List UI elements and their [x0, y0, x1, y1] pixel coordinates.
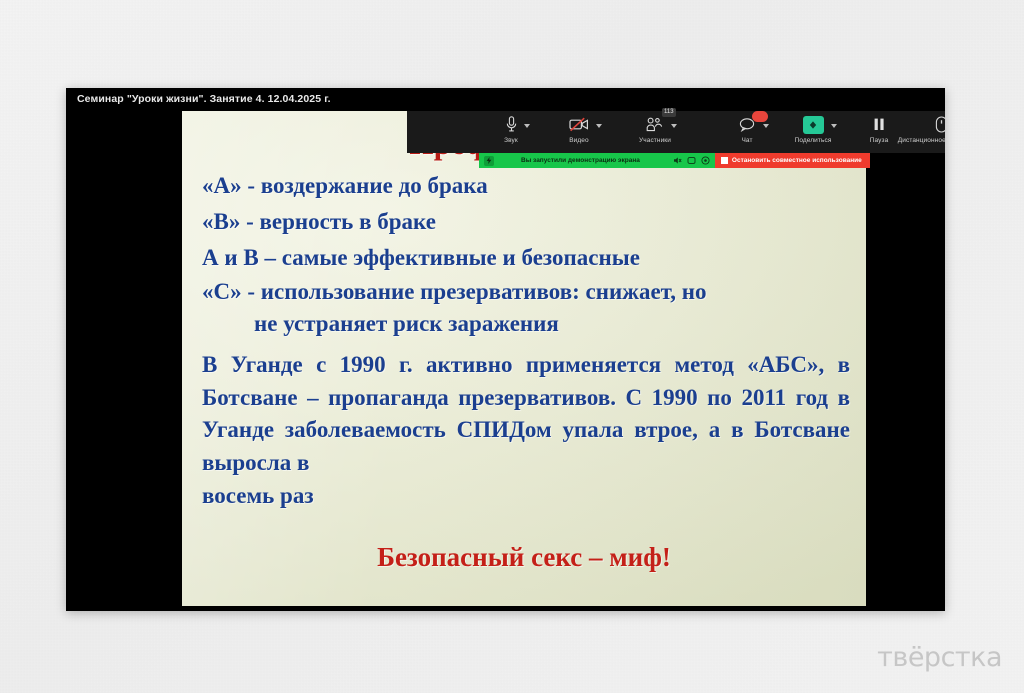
toolbar-button-chat[interactable]: Чат [727, 111, 767, 144]
slide-footer: Безопасный секс – миф! [182, 542, 866, 573]
shared-slide: Профилактичес «А» - воздержание до брака… [182, 111, 866, 606]
toolbar-button-video[interactable]: Видео [559, 111, 599, 144]
list-item: А и В – самые эффективные и безопасные [202, 240, 848, 276]
list-item-line1: «С» - использование презервативов: снижа… [202, 279, 706, 304]
stop-square-icon [721, 157, 728, 164]
toolbar-label-video: Видео [569, 137, 589, 144]
share-status-bar: Вы запустили демонстрацию экрана [479, 153, 715, 168]
video-off-icon [569, 115, 589, 134]
slide-paragraph-last-line: восемь раз [202, 480, 850, 513]
share-indicator-icon [484, 156, 494, 166]
share-status-text: Вы запустили демонстрацию экрана [499, 157, 668, 164]
toolbar-button-remote-control[interactable]: Дистанционное управление [921, 111, 945, 144]
meeting-title: Семинар "Уроки жизни". Занятие 4. 12.04.… [66, 88, 945, 110]
screen-share-control-bar: Вы запустили демонстрацию экрана Останов… [479, 153, 870, 168]
pause-share-icon[interactable] [701, 156, 710, 165]
participants-icon: 113 [646, 115, 664, 134]
stop-share-button[interactable]: Остановить совместное использование [715, 153, 870, 168]
pause-icon [872, 115, 886, 134]
microphone-icon [506, 115, 517, 134]
chevron-down-icon[interactable] [671, 124, 677, 128]
chevron-down-icon[interactable] [524, 124, 530, 128]
annotate-icon[interactable] [687, 156, 696, 165]
chevron-down-icon[interactable] [763, 124, 769, 128]
toolbar-button-audio[interactable]: Звук [491, 111, 531, 144]
chat-icon [739, 115, 756, 134]
zoom-toolbar: Звук Видео [407, 111, 945, 153]
share-screen-icon [803, 115, 824, 134]
slide-paragraph-text: В Уганде с 1990 г. активно применяется м… [202, 352, 850, 475]
list-item-line2: не устраняет риск заражения [202, 308, 848, 341]
mute-speaker-icon[interactable] [673, 156, 682, 165]
list-item: «А» - воздержание до брака [202, 168, 848, 204]
toolbar-button-share[interactable]: Поделиться [793, 111, 833, 144]
stop-share-label: Остановить совместное использование [732, 157, 862, 164]
watermark: твёрстка [877, 642, 1002, 673]
chevron-down-icon[interactable] [831, 124, 837, 128]
toolbar-label-chat: Чат [741, 137, 752, 144]
toolbar-label-share: Поделиться [795, 137, 832, 144]
participants-count-badge: 113 [662, 108, 676, 117]
toolbar-label-participants: Участники [639, 137, 671, 144]
toolbar-label-audio: Звук [504, 137, 518, 144]
list-item: «С» - использование презервативов: снижа… [202, 276, 848, 341]
toolbar-label-pause: Пауза [870, 137, 889, 144]
zoom-meeting-window: Семинар "Уроки жизни". Занятие 4. 12.04.… [66, 88, 945, 611]
remote-control-icon [935, 115, 946, 134]
toolbar-label-remote-control: Дистанционное управление [898, 137, 945, 144]
toolbar-button-pause[interactable]: Пауза [859, 111, 899, 144]
toolbar-button-participants[interactable]: 113 Участники [635, 111, 675, 144]
slide-paragraph: В Уганде с 1990 г. активно применяется м… [182, 349, 866, 512]
chevron-down-icon[interactable] [596, 124, 602, 128]
chat-unread-badge [752, 111, 768, 122]
slide-bullet-list: «А» - воздержание до брака «В» - верност… [182, 168, 866, 341]
list-item: «В» - верность в браке [202, 204, 848, 240]
screenshot-root: Семинар "Уроки жизни". Занятие 4. 12.04.… [0, 0, 1024, 693]
